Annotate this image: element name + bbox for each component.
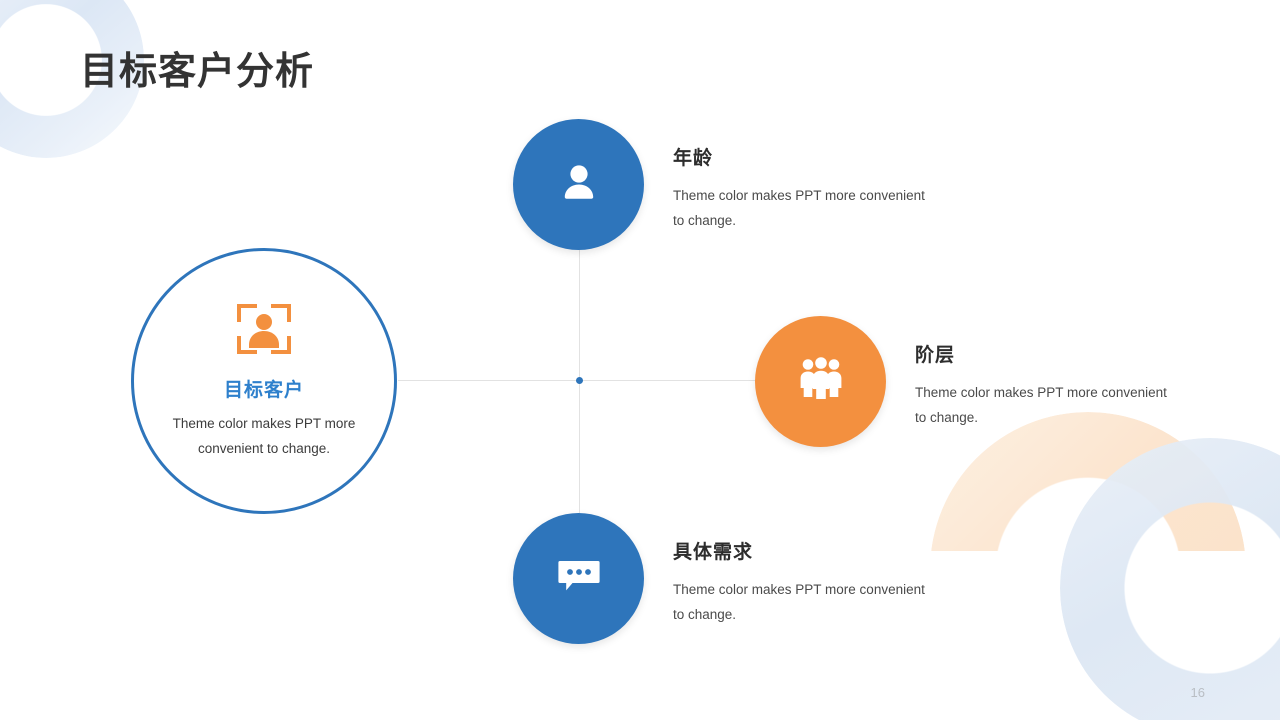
- connector-hub-dot: [576, 377, 583, 384]
- chat-bubble-icon: [556, 556, 602, 601]
- hub-description: Theme color makes PPT more convenient to…: [168, 412, 360, 462]
- node-text-needs: 具体需求 Theme color makes PPT more convenie…: [673, 537, 935, 628]
- hub-title: 目标客户: [224, 375, 304, 402]
- connector-line-horizontal: [398, 380, 780, 381]
- node-description-age: Theme color makes PPT more convenient to…: [673, 184, 935, 234]
- node-description-needs: Theme color makes PPT more convenient to…: [673, 578, 935, 628]
- page-title: 目标客户分析: [80, 50, 314, 96]
- node-description-class: Theme color makes PPT more convenient to…: [915, 381, 1177, 431]
- node-heading-needs: 具体需求: [673, 537, 935, 564]
- node-heading-class: 阶层: [915, 340, 1177, 367]
- node-circle-needs[interactable]: [513, 513, 644, 644]
- page-number: 16: [1191, 685, 1205, 700]
- person-in-frame-icon: [235, 300, 293, 363]
- node-circle-age[interactable]: [513, 119, 644, 250]
- slide-canvas: 目标客户分析 目标客户 Theme color make: [0, 0, 1280, 720]
- person-icon: [556, 159, 602, 210]
- decorative-arc-orange: [930, 412, 1246, 720]
- node-text-age: 年龄 Theme color makes PPT more convenient…: [673, 143, 935, 234]
- node-heading-age: 年龄: [673, 143, 935, 170]
- group-people-icon: [797, 357, 845, 406]
- node-text-class: 阶层 Theme color makes PPT more convenient…: [915, 340, 1177, 431]
- hub-circle[interactable]: 目标客户 Theme color makes PPT more convenie…: [131, 248, 397, 514]
- decorative-ring-blue: [1060, 438, 1280, 720]
- node-circle-class[interactable]: [755, 316, 886, 447]
